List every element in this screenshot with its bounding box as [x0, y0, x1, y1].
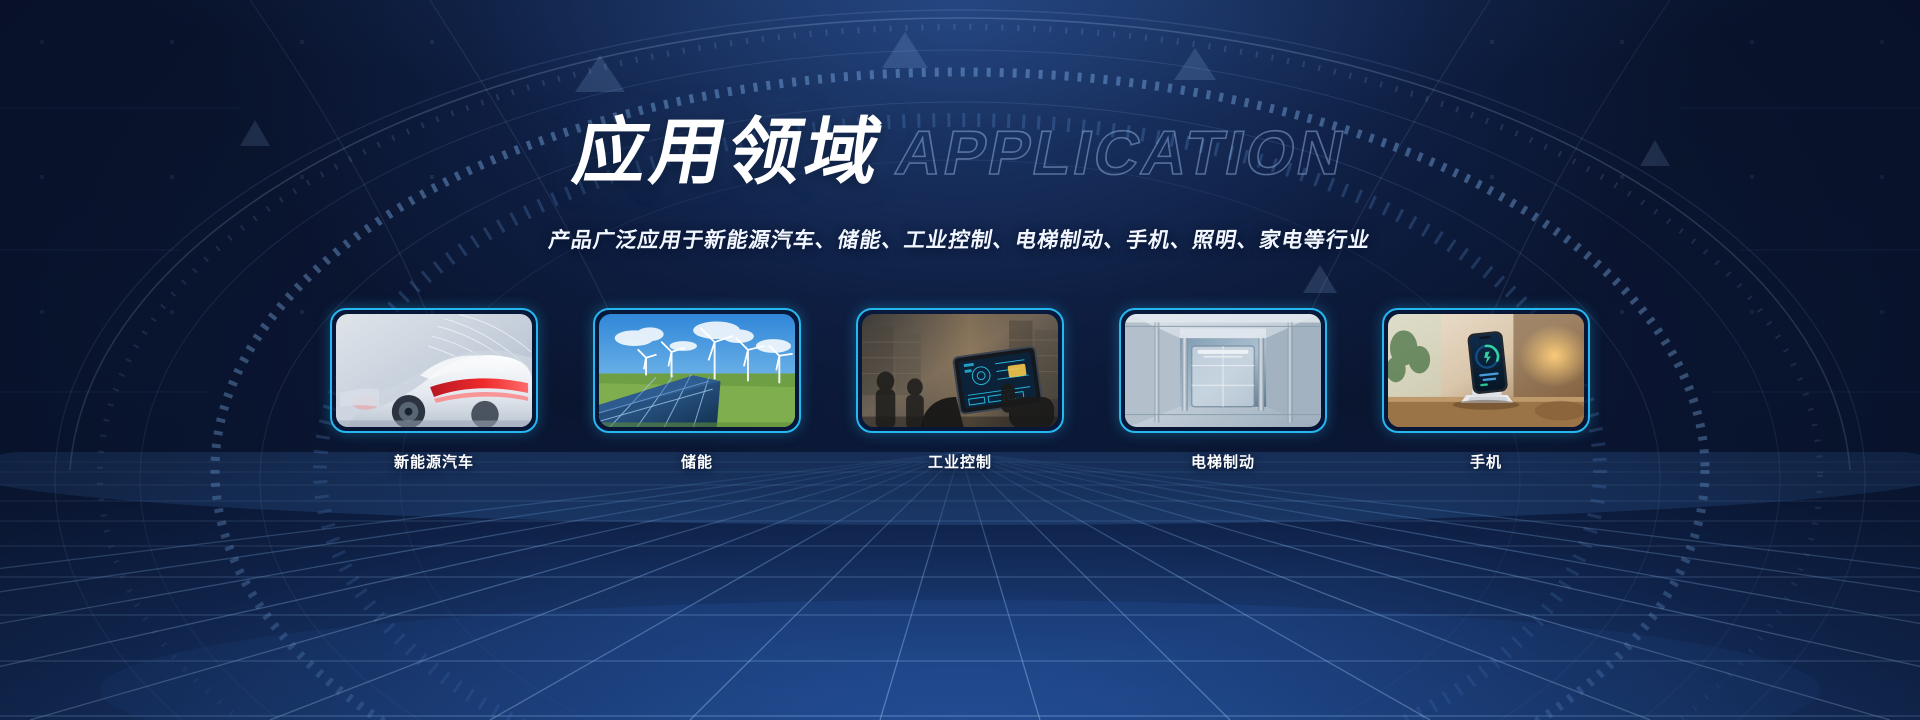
card-thumbnail-frame[interactable]: [1382, 308, 1590, 433]
card-label: 储能: [681, 451, 713, 472]
elevator-shaft-photo: [1125, 314, 1321, 427]
smartphone-wireless-charger-photo: [1388, 314, 1584, 427]
page-subtitle: 产品广泛应用于新能源汽车、储能、工业控制、电梯制动、手机、照明、家电等行业: [0, 224, 1920, 254]
application-card[interactable]: 新能源汽车: [330, 308, 538, 472]
card-thumbnail-frame[interactable]: [1119, 308, 1327, 433]
application-card[interactable]: 工业控制: [856, 308, 1064, 472]
card-label: 工业控制: [928, 451, 992, 472]
card-thumbnail-frame[interactable]: [856, 308, 1064, 433]
industrial-tablet-control-photo: [862, 314, 1058, 427]
card-thumbnail-frame[interactable]: [330, 308, 538, 433]
application-card[interactable]: 手机: [1382, 308, 1590, 472]
application-card[interactable]: 储能: [593, 308, 801, 472]
page-title-english: APPLICATION: [891, 123, 1352, 185]
card-label: 新能源汽车: [394, 451, 474, 472]
application-card[interactable]: 电梯制动: [1119, 308, 1327, 472]
application-banner: 应用领域 APPLICATION 产品广泛应用于新能源汽车、储能、工业控制、电梯…: [0, 0, 1920, 720]
headline: 应用领域 APPLICATION: [0, 116, 1920, 189]
application-card-list: 新能源汽车: [0, 308, 1920, 472]
card-label: 电梯制动: [1191, 451, 1255, 472]
card-label: 手机: [1470, 451, 1502, 472]
electric-sports-car-photo: [336, 314, 532, 427]
card-thumbnail-frame[interactable]: [593, 308, 801, 433]
page-title: 应用领域: [568, 116, 890, 189]
solar-panels-wind-turbines-photo: [599, 314, 795, 427]
